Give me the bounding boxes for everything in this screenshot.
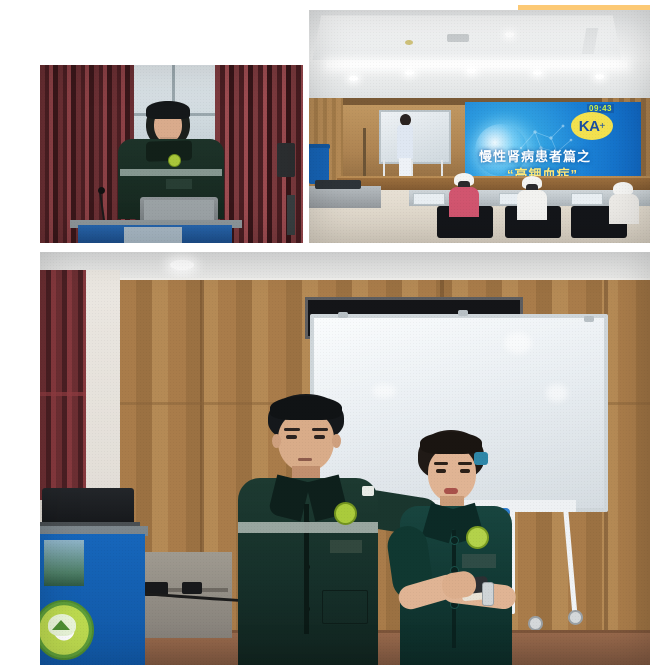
stage-whiteboard xyxy=(379,110,451,164)
male-face xyxy=(278,412,334,472)
caster-wheel-icon xyxy=(568,610,583,625)
curtain xyxy=(40,270,86,500)
whiteboard-clip-icon xyxy=(458,310,468,316)
name-placard xyxy=(413,193,445,205)
female-mouth xyxy=(444,488,458,494)
photo-demonstration[interactable] xyxy=(40,252,650,665)
presenter-uniform xyxy=(397,125,413,159)
female-name-card xyxy=(462,554,496,568)
downlight-icon xyxy=(505,32,514,37)
downlight-icon xyxy=(467,68,476,73)
female-eye xyxy=(460,469,470,473)
recycle-bin xyxy=(309,148,329,184)
name-placard xyxy=(571,193,603,205)
male-ear xyxy=(272,434,281,448)
male-uniform-pocket xyxy=(322,590,368,624)
male-mouth xyxy=(298,458,312,461)
male-eye xyxy=(314,435,325,439)
photo-podium-speaker[interactable] xyxy=(40,65,303,243)
female-eye xyxy=(436,469,446,473)
whiteboard-glare xyxy=(504,332,532,354)
downlight-icon xyxy=(595,74,604,79)
female-round-badge-icon xyxy=(466,526,489,549)
male-round-badge-icon xyxy=(334,502,357,525)
equipment-stand xyxy=(287,195,295,235)
whiteboard-clip-icon xyxy=(584,316,594,322)
wall-panel xyxy=(277,143,295,177)
podium-front-panel xyxy=(124,227,182,243)
male-eyebrow xyxy=(312,428,328,431)
whiteboard-clip-icon xyxy=(338,312,348,318)
emblem-arrow-icon xyxy=(52,620,70,630)
female-eyebrow xyxy=(434,462,448,465)
microphone-icon xyxy=(98,187,105,194)
stage-stand xyxy=(363,128,366,182)
attendee-torso xyxy=(517,190,547,220)
ceiling-sensor-icon xyxy=(405,40,413,45)
desk-object xyxy=(182,582,202,594)
photo-lecture-hall[interactable]: 09:43 KA+ 慢性肾病患者篇之 “高钾血症” xyxy=(309,10,650,243)
uniform-button xyxy=(450,536,459,545)
male-staff xyxy=(238,394,378,665)
attendee-torso xyxy=(449,187,479,217)
attendee-torso xyxy=(609,194,639,224)
uniform-reflective-stripe xyxy=(120,169,222,176)
uniform-name-card xyxy=(166,179,192,189)
male-ear xyxy=(332,434,341,448)
ka-logo-superscript: + xyxy=(599,121,605,132)
ceiling-vent xyxy=(447,34,469,42)
screen-title-line-1: 慢性肾病患者篇之 xyxy=(479,146,641,165)
collage-canvas: 09:43 KA+ 慢性肾病患者篇之 “高钾血症” xyxy=(0,0,650,665)
podium-graphic-panel xyxy=(44,540,84,586)
front-desk xyxy=(309,186,381,208)
downlight-icon xyxy=(349,76,358,81)
curtain-tieback xyxy=(40,392,86,396)
downlight-icon xyxy=(405,70,414,75)
male-name-card xyxy=(330,540,362,553)
female-staff xyxy=(390,430,518,665)
male-reflective-stripe xyxy=(238,522,378,533)
downlight-icon xyxy=(533,70,542,75)
male-fringe xyxy=(270,396,342,420)
hair-clip-icon xyxy=(474,452,488,465)
male-eyebrow xyxy=(284,428,300,431)
speaker-hair xyxy=(146,101,190,119)
stacked-papers xyxy=(315,180,361,189)
uniform-badge-icon xyxy=(168,154,181,167)
whiteboard-glare xyxy=(546,384,568,402)
caster-wheel-icon xyxy=(528,616,543,631)
ceiling-light-strip xyxy=(327,62,627,67)
hall-presenter xyxy=(397,114,413,178)
male-eye xyxy=(286,435,297,439)
ka-plus-logo: KA+ xyxy=(571,112,613,140)
male-shoulder-patch-icon xyxy=(362,486,374,496)
ka-logo-text: KA xyxy=(579,118,600,135)
led-screen: 09:43 KA+ 慢性肾病患者篇之 “高钾血症” xyxy=(465,102,641,186)
ceiling-downlight-icon xyxy=(170,260,194,270)
female-eyebrow xyxy=(458,462,472,465)
wrist-watch-icon xyxy=(482,582,494,606)
female-fringe xyxy=(420,432,482,454)
